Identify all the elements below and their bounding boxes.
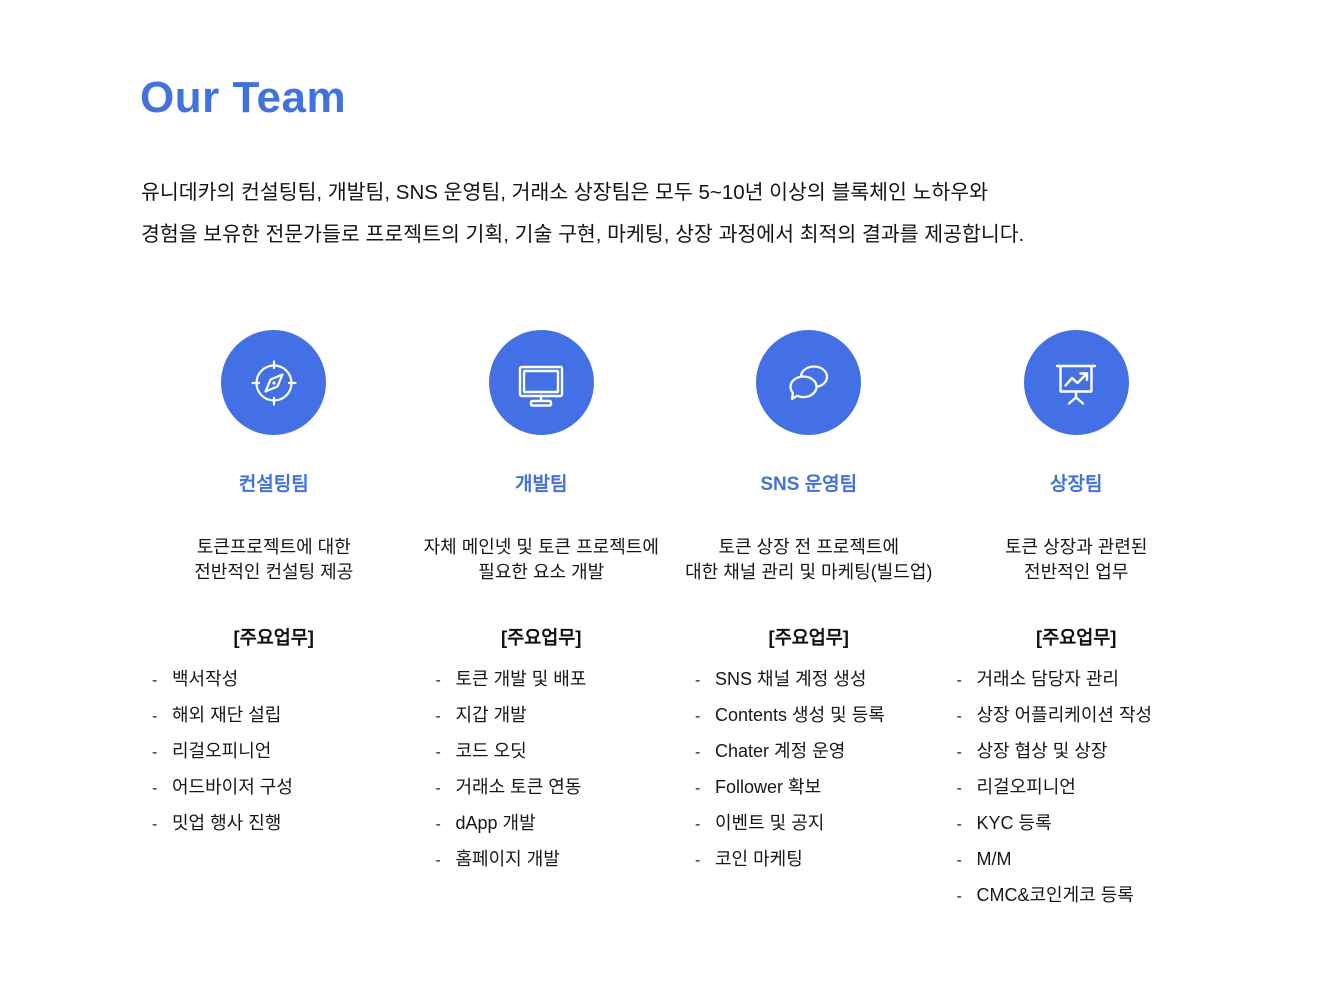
list-item: - 리걸오피니언 xyxy=(152,734,293,770)
presentation-chart-icon-circle xyxy=(1024,330,1129,435)
team-desc-line-2: 대한 채널 관리 및 마케팅(빌드업) xyxy=(685,562,932,582)
bullet-dash: - xyxy=(957,700,977,734)
bullet-dash: - xyxy=(957,736,977,770)
duty-text: 코드 오딧 xyxy=(456,734,527,768)
duty-text: 홈페이지 개발 xyxy=(456,842,560,876)
duty-text: 어드바이저 구성 xyxy=(172,770,293,804)
duty-text: Contents 생성 및 등록 xyxy=(715,698,885,732)
bullet-dash: - xyxy=(695,700,715,734)
presentation-chart-icon xyxy=(1047,354,1105,412)
duty-header-sns: [주요업무] xyxy=(769,627,849,649)
bullet-dash: - xyxy=(436,772,456,806)
list-item: - 백서작성 xyxy=(152,662,293,698)
team-column-development: 개발팀 자체 메인넷 및 토큰 프로젝트에 필요한 요소 개발 [주요업무] -… xyxy=(408,330,676,914)
duty-text: 백서작성 xyxy=(172,662,238,696)
list-item: - 홈페이지 개발 xyxy=(436,842,587,878)
duty-text: 거래소 담당자 관리 xyxy=(977,662,1119,696)
team-desc-line-2: 전반적인 업무 xyxy=(1024,562,1128,582)
duty-text: 상장 협상 및 상장 xyxy=(977,734,1108,768)
team-column-consulting: 컨설팅팀 토큰프로젝트에 대한 전반적인 컨설팅 제공 [주요업무] - 백서작… xyxy=(140,330,408,914)
list-item: - 거래소 담당자 관리 xyxy=(957,662,1153,698)
duty-text: Chater 계정 운영 xyxy=(715,734,845,768)
team-columns: 컨설팅팀 토큰프로젝트에 대한 전반적인 컨설팅 제공 [주요업무] - 백서작… xyxy=(140,330,1210,914)
duty-list-development: - 토큰 개발 및 배포 - 지갑 개발 - 코드 오딧 - 거래소 토큰 연동… xyxy=(408,662,587,878)
list-item: - M/M xyxy=(957,842,1153,878)
list-item: - 리걸오피니언 xyxy=(957,770,1153,806)
team-title-sns: SNS 운영팀 xyxy=(760,474,857,497)
duty-text: 이벤트 및 공지 xyxy=(715,806,824,840)
bullet-dash: - xyxy=(436,664,456,698)
list-item: - 상장 어플리케이션 작성 xyxy=(957,698,1153,734)
intro-line-1: 유니데카의 컨설팅팀, 개발팀, SNS 운영팀, 거래소 상장팀은 모두 5~… xyxy=(141,172,1221,214)
bullet-dash: - xyxy=(957,664,977,698)
duty-text: 토큰 개발 및 배포 xyxy=(456,662,587,696)
intro-line-2: 경험을 보유한 전문가들로 프로젝트의 기획, 기술 구현, 마케팅, 상장 과… xyxy=(141,214,1221,256)
team-desc-line-1: 토큰 상장과 관련된 xyxy=(1005,537,1147,557)
duty-text: 리걸오피니언 xyxy=(977,770,1076,804)
duty-header-development: [주요업무] xyxy=(501,627,581,649)
list-item: - Contents 생성 및 등록 xyxy=(695,698,885,734)
bullet-dash: - xyxy=(436,808,456,842)
monitor-icon xyxy=(512,354,570,412)
duty-text: SNS 채널 계정 생성 xyxy=(715,662,866,696)
page-title: Our Team xyxy=(140,74,346,122)
bullet-dash: - xyxy=(957,808,977,842)
team-title-development: 개발팀 xyxy=(515,474,567,497)
duty-text: 지갑 개발 xyxy=(456,698,527,732)
team-column-listing: 상장팀 토큰 상장과 관련된 전반적인 업무 [주요업무] - 거래소 담당자 … xyxy=(943,330,1211,914)
bullet-dash: - xyxy=(695,772,715,806)
slide-root: Our Team 유니데카의 컨설팅팀, 개발팀, SNS 운영팀, 거래소 상… xyxy=(0,0,1344,1008)
team-desc-line-2: 전반적인 컨설팅 제공 xyxy=(194,562,353,582)
duty-text: M/M xyxy=(977,842,1012,876)
duty-text: 리걸오피니언 xyxy=(172,734,271,768)
duty-list-listing: - 거래소 담당자 관리 - 상장 어플리케이션 작성 - 상장 협상 및 상장… xyxy=(943,662,1153,914)
list-item: - 밋업 행사 진행 xyxy=(152,806,293,842)
list-item: - CMC&코인게코 등록 xyxy=(957,878,1153,914)
team-desc-development: 자체 메인넷 및 토큰 프로젝트에 필요한 요소 개발 xyxy=(424,535,659,585)
duty-list-sns: - SNS 채널 계정 생성 - Contents 생성 및 등록 - Chat… xyxy=(675,662,885,878)
bullet-dash: - xyxy=(957,880,977,914)
list-item: - SNS 채널 계정 생성 xyxy=(695,662,885,698)
bullet-dash: - xyxy=(695,736,715,770)
list-item: - KYC 등록 xyxy=(957,806,1153,842)
compass-icon-circle xyxy=(221,330,326,435)
duty-text: 밋업 행사 진행 xyxy=(172,806,281,840)
team-desc-consulting: 토큰프로젝트에 대한 전반적인 컨설팅 제공 xyxy=(194,535,353,585)
list-item: - dApp 개발 xyxy=(436,806,587,842)
duty-header-listing: [주요업무] xyxy=(1036,627,1116,649)
duty-text: dApp 개발 xyxy=(456,806,536,840)
bullet-dash: - xyxy=(152,664,172,698)
list-item: - Follower 확보 xyxy=(695,770,885,806)
duty-text: 해외 재단 설립 xyxy=(172,698,281,732)
compass-icon xyxy=(246,355,302,411)
list-item: - 어드바이저 구성 xyxy=(152,770,293,806)
duty-text: CMC&코인게코 등록 xyxy=(977,878,1134,912)
duty-text: Follower 확보 xyxy=(715,770,821,804)
bullet-dash: - xyxy=(152,736,172,770)
list-item: - 토큰 개발 및 배포 xyxy=(436,662,587,698)
list-item: - Chater 계정 운영 xyxy=(695,734,885,770)
team-desc-line-1: 자체 메인넷 및 토큰 프로젝트에 xyxy=(424,537,659,557)
bullet-dash: - xyxy=(436,700,456,734)
list-item: - 이벤트 및 공지 xyxy=(695,806,885,842)
chat-bubbles-icon-circle xyxy=(756,330,861,435)
bullet-dash: - xyxy=(957,772,977,806)
monitor-icon-circle xyxy=(489,330,594,435)
list-item: - 코드 오딧 xyxy=(436,734,587,770)
bullet-dash: - xyxy=(957,844,977,878)
duty-text: 거래소 토큰 연동 xyxy=(456,770,582,804)
bullet-dash: - xyxy=(152,808,172,842)
duty-text: KYC 등록 xyxy=(977,806,1052,840)
team-desc-line-1: 토큰 상장 전 프로젝트에 xyxy=(718,537,899,557)
team-desc-sns: 토큰 상장 전 프로젝트에 대한 채널 관리 및 마케팅(빌드업) xyxy=(685,535,932,585)
list-item: - 해외 재단 설립 xyxy=(152,698,293,734)
bullet-dash: - xyxy=(695,664,715,698)
bullet-dash: - xyxy=(436,844,456,878)
list-item: - 거래소 토큰 연동 xyxy=(436,770,587,806)
bullet-dash: - xyxy=(695,808,715,842)
team-desc-listing: 토큰 상장과 관련된 전반적인 업무 xyxy=(1005,535,1147,585)
bullet-dash: - xyxy=(152,772,172,806)
intro-paragraph: 유니데카의 컨설팅팀, 개발팀, SNS 운영팀, 거래소 상장팀은 모두 5~… xyxy=(141,172,1221,256)
team-column-sns: SNS 운영팀 토큰 상장 전 프로젝트에 대한 채널 관리 및 마케팅(빌드업… xyxy=(675,330,943,914)
duty-text: 상장 어플리케이션 작성 xyxy=(977,698,1153,732)
list-item: - 상장 협상 및 상장 xyxy=(957,734,1153,770)
bullet-dash: - xyxy=(152,700,172,734)
chat-bubbles-icon xyxy=(780,354,838,412)
team-desc-line-2: 필요한 요소 개발 xyxy=(478,562,604,582)
duty-list-consulting: - 백서작성 - 해외 재단 설립 - 리걸오피니언 - 어드바이저 구성 - xyxy=(140,662,293,842)
team-desc-line-1: 토큰프로젝트에 대한 xyxy=(197,537,351,557)
list-item: - 코인 마케팅 xyxy=(695,842,885,878)
team-title-consulting: 컨설팅팀 xyxy=(239,474,309,497)
list-item: - 지갑 개발 xyxy=(436,698,587,734)
duty-text: 코인 마케팅 xyxy=(715,842,803,876)
bullet-dash: - xyxy=(695,844,715,878)
team-title-listing: 상장팀 xyxy=(1050,474,1102,497)
duty-header-consulting: [주요업무] xyxy=(234,627,314,649)
bullet-dash: - xyxy=(436,736,456,770)
